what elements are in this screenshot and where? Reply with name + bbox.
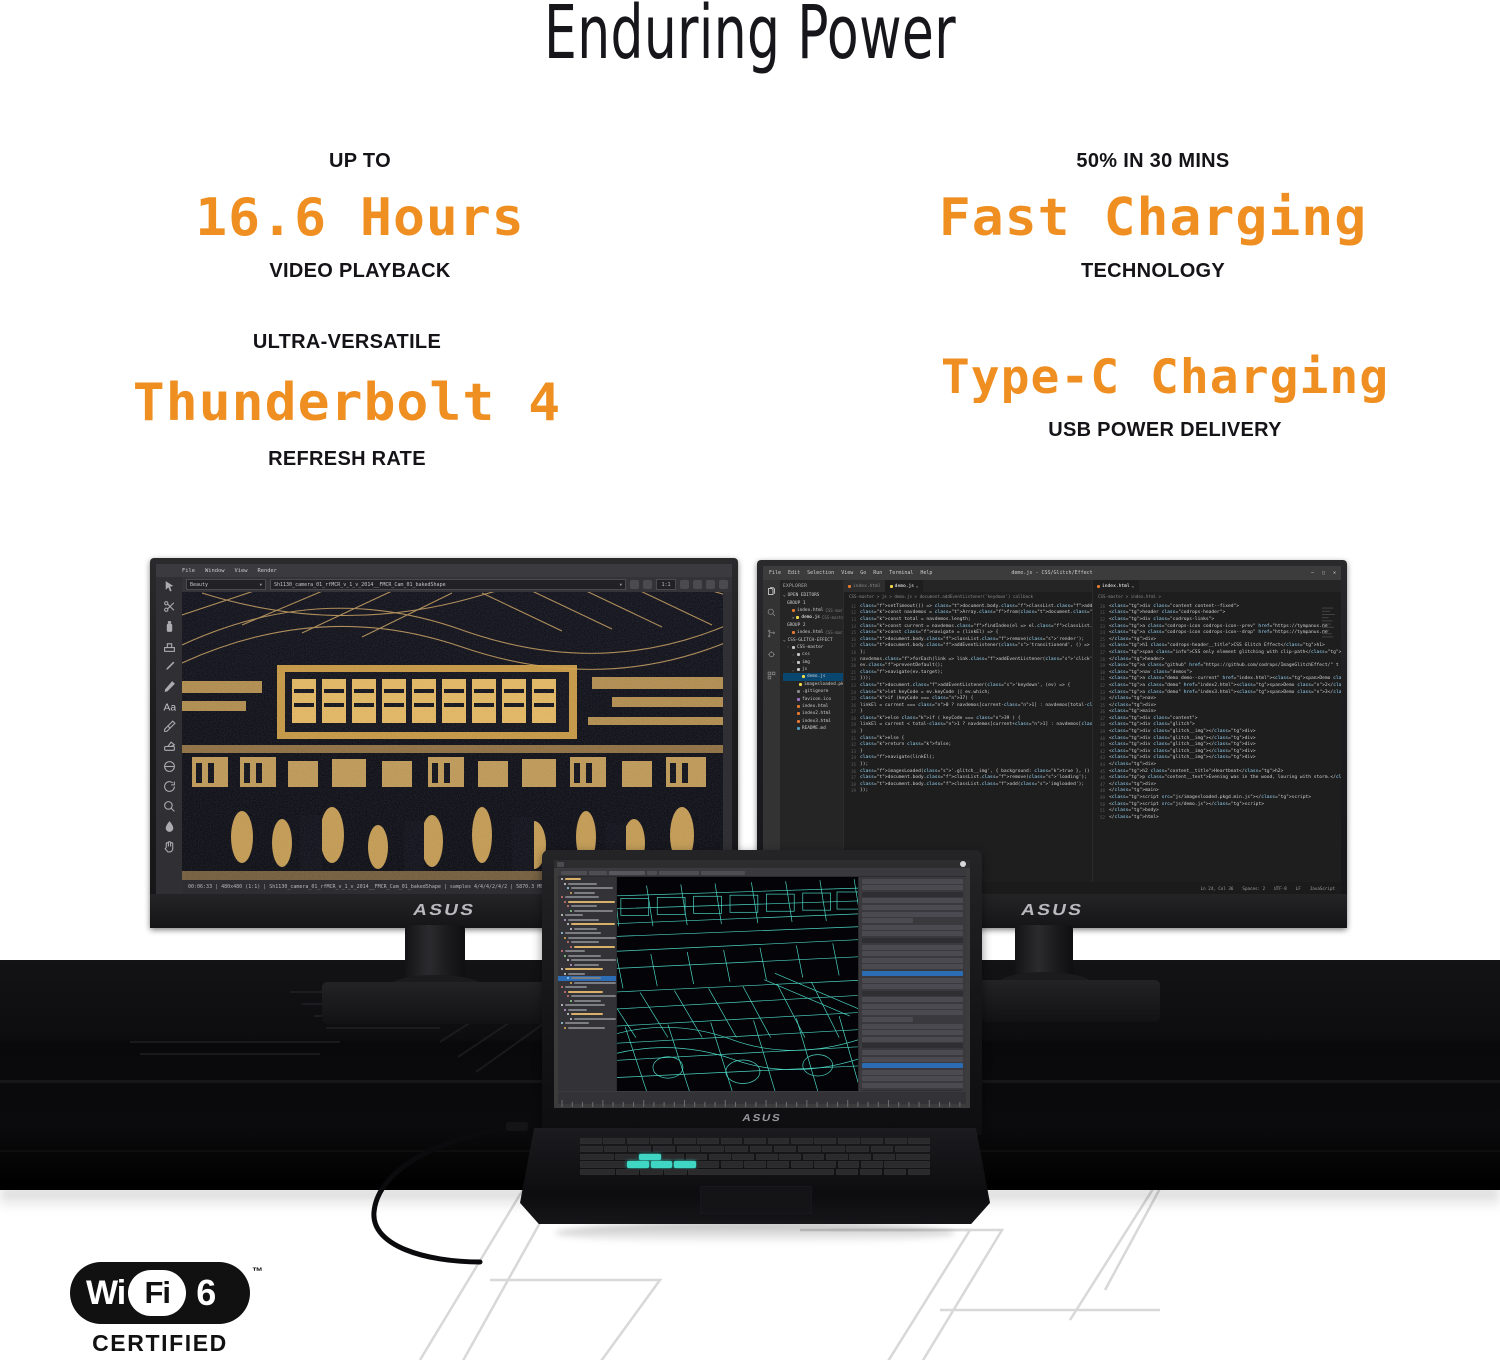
code-line: 22})); — [844, 676, 1092, 683]
bottle-icon[interactable] — [163, 620, 176, 633]
code-line: 23 <class="tg">a class="codrops-icon cod… — [1093, 623, 1341, 630]
key[interactable] — [650, 1138, 672, 1144]
laptop-viewport[interactable] — [617, 877, 858, 1091]
tree-item[interactable]: demo.js — [783, 673, 843, 680]
status-position[interactable]: Ln 24, Col 36 — [1201, 886, 1234, 891]
code-content-right[interactable]: 20<class="tg">div class="content content… — [1093, 601, 1341, 882]
line-number: 46 — [1093, 775, 1109, 780]
editor-tabs-left[interactable]: index.html demo.js ✕ — [844, 580, 1092, 592]
code-line: 18}; — [844, 649, 1092, 656]
key[interactable] — [791, 1138, 813, 1144]
property-row[interactable] — [862, 964, 963, 969]
menu-render[interactable]: Render — [257, 568, 276, 574]
render-viewer-scrollbar[interactable] — [723, 592, 732, 880]
key[interactable] — [580, 1154, 614, 1160]
code-line: 33 } — [844, 748, 1092, 755]
code-text: <class="tg">a class="demo" href="index3.… — [1109, 690, 1341, 695]
code-text: class="t">document.body.class="f">classL… — [860, 775, 1087, 780]
close-icon[interactable]: ✕ — [1333, 570, 1336, 576]
key[interactable] — [697, 1138, 719, 1144]
key[interactable] — [814, 1138, 836, 1144]
svg-text:Aa: Aa — [163, 702, 175, 713]
key[interactable] — [627, 1138, 649, 1144]
code-content-left[interactable]: 11class="f">setTimeout(() => class="t">d… — [844, 601, 1092, 882]
key-highlighted[interactable] — [674, 1161, 696, 1167]
key[interactable] — [744, 1138, 766, 1144]
toolbar-icon-d[interactable] — [693, 580, 702, 589]
vscode-window-title: demo.js - CSS/Glitch/Effect — [1011, 570, 1092, 576]
key[interactable] — [674, 1138, 696, 1144]
key[interactable] — [836, 1169, 858, 1175]
line-number: 26 — [1093, 643, 1109, 648]
line-number: 28 — [844, 716, 860, 721]
property-row[interactable] — [862, 1090, 963, 1091]
editor-pane-left[interactable]: index.html demo.js ✕ CSS-master > js > d… — [843, 580, 1092, 882]
menu-window[interactable]: Window — [205, 568, 224, 574]
eyedropper-icon[interactable] — [163, 720, 176, 733]
key-highlighted[interactable] — [651, 1161, 673, 1167]
status-spaces[interactable]: Spaces: 2 — [1242, 886, 1265, 891]
key[interactable] — [628, 1146, 651, 1152]
line-number: 17 — [844, 643, 860, 648]
code-text: class="k">return class="k">false; — [860, 742, 951, 747]
line-number: 51 — [1093, 808, 1109, 813]
code-line: 37 class="t">document.body.class="f">cla… — [844, 774, 1092, 781]
property-row[interactable] — [862, 892, 963, 897]
feature-2-overline: ULTRA-VERSATILE — [0, 331, 722, 354]
menu-file[interactable]: File — [182, 568, 195, 574]
menu-selection[interactable]: Selection — [807, 570, 834, 576]
code-line: 28 class="k">else class="k">if ( keyCode… — [844, 715, 1092, 722]
tree-item[interactable]: ›img — [783, 659, 843, 666]
breadcrumb-right[interactable]: CSS-master > index.html > — [1093, 592, 1341, 601]
menu-view[interactable]: View — [234, 568, 247, 574]
key[interactable] — [768, 1138, 790, 1144]
status-encoding[interactable]: UTF-8 — [1274, 886, 1287, 891]
tree-item[interactable]: ⌄js — [783, 666, 843, 673]
property-row[interactable] — [862, 1057, 963, 1062]
file-tree[interactable]: ›CSS-master›css›img⌄jsdemo.jsimagesloade… — [783, 644, 843, 733]
tree-item[interactable]: README.md — [783, 725, 843, 732]
gradient-icon[interactable] — [163, 760, 176, 773]
laptop-keyboard[interactable] — [580, 1138, 930, 1180]
key[interactable] — [688, 1169, 834, 1175]
toolbar-icon-b[interactable] — [643, 580, 652, 589]
tree-item[interactable]: ›css — [783, 651, 843, 658]
code-line: 23class="t">document.class="f">addEventL… — [844, 682, 1092, 689]
key[interactable] — [580, 1138, 602, 1144]
vscode-activity-bar[interactable] — [763, 580, 780, 882]
code-line: 50<class="tg">script src="js/demo.js"></… — [1093, 801, 1341, 808]
minimap[interactable] — [1322, 604, 1338, 656]
status-language[interactable]: JavaScript — [1310, 886, 1335, 891]
tree-item-label: index3.html — [802, 719, 831, 724]
key[interactable] — [653, 1146, 676, 1152]
key[interactable] — [822, 1146, 845, 1152]
code-text: class="k">const navdemos = class="t">Arr… — [860, 610, 1092, 615]
key[interactable] — [604, 1146, 627, 1152]
key[interactable] — [697, 1161, 719, 1167]
line-number: 43 — [1093, 755, 1109, 760]
property-row[interactable] — [862, 905, 963, 910]
key[interactable] — [908, 1169, 930, 1175]
text-icon[interactable]: Aa — [163, 700, 176, 713]
wifi6-certified-badge: Wi Fi 6 ™ CERTIFIED — [70, 1262, 265, 1357]
key[interactable] — [744, 1161, 766, 1167]
line-number: 45 — [1093, 769, 1109, 774]
key-highlighted[interactable] — [639, 1154, 661, 1160]
tree-item-label: README.md — [802, 726, 826, 731]
stamp-icon[interactable] — [163, 640, 176, 653]
line-number: 29 — [844, 722, 860, 727]
key[interactable] — [725, 1146, 748, 1152]
toolbar-icon-c[interactable] — [680, 580, 689, 589]
key[interactable] — [908, 1138, 930, 1144]
tree-item-label: index2.html — [802, 711, 831, 716]
code-text: </class="tg">body> — [1109, 808, 1159, 813]
key[interactable] — [580, 1146, 603, 1152]
line-number: 11 — [844, 604, 860, 609]
tree-item[interactable]: imagesloaded.pkgd.min.js — [783, 681, 843, 688]
line-number: 23 — [1093, 624, 1109, 629]
keyboard-row — [580, 1146, 930, 1152]
property-row[interactable] — [862, 1043, 963, 1048]
line-number: 48 — [1093, 788, 1109, 793]
key[interactable] — [603, 1138, 625, 1144]
code-text: <class="tg">div class="glitch__img"></cl… — [1109, 742, 1256, 747]
code-line: 11class="f">setTimeout(() => class="t">d… — [844, 603, 1092, 610]
property-row[interactable] — [862, 958, 963, 963]
search-icon[interactable] — [767, 608, 776, 617]
property-row[interactable] — [862, 885, 963, 890]
key[interactable] — [849, 1154, 871, 1160]
key[interactable] — [826, 1154, 848, 1160]
code-text: class="k">const current = navdemos.class… — [860, 624, 1092, 629]
toolbar-icon-e[interactable] — [706, 580, 715, 589]
code-text: <class="tg">div class="glitch__img"></cl… — [1109, 755, 1256, 760]
open-editor-item-active[interactable]: ✕ demo.js CSS-master/js — [783, 614, 843, 621]
code-line: 12class="k">const navdemos = class="t">A… — [844, 610, 1092, 617]
vscode-explorer-sidebar[interactable]: EXPLORER ⌄OPEN EDITORS GROUP 1 index.htm… — [780, 580, 843, 882]
property-row[interactable] — [862, 879, 963, 884]
code-text: <class="tg">div class="glitch__img"></cl… — [1109, 749, 1256, 754]
key[interactable] — [750, 1146, 773, 1152]
line-number: 36 — [844, 769, 860, 774]
property-row[interactable] — [862, 1076, 963, 1081]
vscode-app: File Edit Selection View Go Run Terminal… — [763, 566, 1341, 894]
eraser-icon[interactable] — [163, 740, 176, 753]
open-editor-item[interactable]: index.html CSS-master — [783, 607, 843, 614]
files-icon[interactable] — [767, 587, 776, 596]
laptop-app-toolbar[interactable] — [558, 869, 966, 876]
key[interactable] — [861, 1161, 883, 1167]
property-row[interactable] — [862, 1063, 963, 1068]
key[interactable] — [640, 1169, 662, 1175]
property-row[interactable] — [862, 1017, 913, 1022]
line-number: 38 — [1093, 722, 1109, 727]
property-row[interactable] — [862, 1030, 963, 1035]
property-row[interactable] — [862, 984, 963, 989]
tab-index-html[interactable]: index.html — [844, 580, 886, 592]
code-text: <class="tg">script src="js/demo.js"></cl… — [1109, 802, 1264, 807]
project-root-header[interactable]: ⌄CSS-GLITCH-EFFECT — [783, 636, 843, 643]
code-line: 32 class="k">return class="k">false; — [844, 741, 1092, 748]
code-text: </class="tg">div> — [1109, 703, 1156, 708]
feature-3-underline: USB POWER DELIVERY — [790, 419, 1500, 442]
code-line: 31 class="k">else { — [844, 735, 1092, 742]
zoom-icon[interactable] — [163, 800, 176, 813]
minimize-icon[interactable]: — — [1311, 570, 1314, 576]
editor-tabs-right[interactable]: index.html ✕ — [1093, 580, 1341, 592]
tab-index-html-right[interactable]: index.html ✕ — [1093, 580, 1139, 592]
code-text: class="t">document.body.class="f">classL… — [860, 637, 1084, 642]
code-text: })); — [860, 676, 871, 681]
key[interactable] — [896, 1154, 930, 1160]
pencil-icon[interactable] — [163, 680, 176, 693]
code-text: class="k">else { — [860, 736, 904, 741]
code-line: 38 class="t">document.body.class="f">cla… — [844, 781, 1092, 788]
hand-icon[interactable] — [163, 840, 176, 853]
property-row[interactable] — [862, 978, 963, 983]
code-line: 39 <class="tg">div class="glitch__img"><… — [1093, 728, 1341, 735]
tree-item[interactable]: favicon.ico — [783, 695, 843, 702]
tree-item-label: css — [802, 652, 810, 657]
line-number: 15 — [844, 630, 860, 635]
key[interactable] — [814, 1161, 836, 1167]
tree-item[interactable]: index2.html — [783, 710, 843, 717]
code-text: <class="tg">nav class="demos"> — [1109, 670, 1192, 675]
property-row[interactable] — [862, 938, 963, 943]
property-row[interactable] — [862, 971, 963, 976]
code-text: <class="tg">h2 class="content__title">He… — [1109, 769, 1283, 774]
code-line: 25 </class="tg">div> — [1093, 636, 1341, 643]
keyboard-row — [580, 1169, 930, 1175]
debug-icon[interactable] — [767, 650, 776, 659]
key[interactable] — [701, 1146, 724, 1152]
code-line: 46 <class="tg">p class="content__text">E… — [1093, 774, 1341, 781]
property-row[interactable] — [862, 1024, 963, 1029]
hamburger-icon[interactable] — [557, 862, 564, 867]
editor-pane-right[interactable]: index.html ✕ CSS-master > index.html > 2… — [1092, 580, 1341, 882]
feature-block-thunderbolt: ULTRA-VERSATILE Thunderbolt 4 REFRESH RA… — [0, 331, 722, 470]
render-select[interactable]: Sh1130_camera_01_rfMCR_v_1_v_2014__FMCR_… — [270, 579, 626, 590]
rotate-icon[interactable] — [163, 780, 176, 793]
asus-logo-right: ASUS — [1019, 902, 1085, 920]
key[interactable] — [709, 1154, 731, 1160]
key-highlighted[interactable] — [627, 1161, 649, 1167]
open-editors-header[interactable]: ⌄OPEN EDITORS — [783, 592, 843, 599]
key[interactable] — [686, 1154, 708, 1160]
laptop-app-outliner[interactable] — [558, 877, 616, 1091]
trademark-icon: ™ — [252, 1266, 263, 1278]
menu-help[interactable]: Help — [920, 570, 932, 576]
tree-item[interactable]: index.html — [783, 703, 843, 710]
menu-run[interactable]: Run — [873, 570, 882, 576]
property-row[interactable] — [862, 1070, 963, 1075]
feature-block-fast-charging: 50% IN 30 MINS Fast Charging TECHNOLOGY — [778, 150, 1500, 283]
vscode-menubar[interactable]: File Edit Selection View Go Run Terminal… — [763, 570, 932, 576]
wifi-wi-text: Wi — [86, 1274, 125, 1313]
window-controls[interactable]: — ▢ ✕ — [1311, 570, 1336, 576]
code-line: 52</class="tg">html> — [1093, 814, 1341, 821]
key[interactable] — [846, 1146, 869, 1152]
code-text: } — [860, 709, 863, 714]
code-line: 21 <class="tg">header class="codrops-hea… — [1093, 610, 1341, 617]
menu-edit[interactable]: Edit — [788, 570, 800, 576]
key[interactable] — [779, 1154, 801, 1160]
layer-select[interactable]: Beauty▼ — [186, 579, 266, 590]
product-photo-scene: Aa File Window View Render — [0, 520, 1500, 1320]
key[interactable] — [580, 1161, 626, 1167]
code-line: 37 <class="tg">div class="content"> — [1093, 715, 1341, 722]
status-eol[interactable]: LF — [1296, 886, 1301, 891]
code-text: class="k">const class="f">navigate = (li… — [860, 630, 998, 635]
key[interactable] — [873, 1154, 895, 1160]
laptop-properties-panel[interactable] — [859, 877, 966, 1091]
scissors-icon[interactable] — [163, 600, 176, 613]
render-viewer-toolbar[interactable]: Aa — [156, 564, 182, 894]
key[interactable] — [732, 1154, 754, 1160]
key[interactable] — [767, 1161, 789, 1167]
keyboard-row — [580, 1138, 930, 1144]
code-line: 42 <class="tg">div class="glitch__img"><… — [1093, 748, 1341, 755]
code-line: 36<class="tg">main> — [1093, 709, 1341, 716]
code-line: 20<class="tg">div class="content content… — [1093, 603, 1341, 610]
blur-icon[interactable] — [163, 820, 176, 833]
property-row[interactable] — [862, 951, 963, 956]
chevron-down-icon[interactable]: ▼ — [620, 582, 622, 587]
laptop-touchpad[interactable] — [700, 1186, 812, 1214]
tree-item-label: .gitignore — [802, 689, 828, 694]
key[interactable] — [861, 1138, 883, 1144]
property-row[interactable] — [862, 918, 913, 923]
key[interactable] — [662, 1154, 684, 1160]
feature-0-headline: 16.6 Hours — [0, 189, 743, 248]
maximize-icon[interactable]: ▢ — [1322, 570, 1325, 576]
line-number: 28 — [1093, 657, 1109, 662]
line-number: 24 — [844, 690, 860, 695]
tree-item[interactable]: ›CSS-master — [783, 644, 843, 651]
tree-item-label: CSS-master — [797, 645, 823, 650]
key[interactable] — [721, 1161, 743, 1167]
key[interactable] — [838, 1161, 860, 1167]
brush-icon[interactable] — [163, 660, 176, 673]
property-row[interactable] — [862, 997, 963, 1002]
code-line: 31 <class="tg">a class="demo demo--curre… — [1093, 676, 1341, 683]
key[interactable] — [677, 1146, 700, 1152]
line-number: 32 — [844, 742, 860, 747]
key[interactable] — [721, 1138, 743, 1144]
line-number: 21 — [1093, 610, 1109, 615]
left-monitor-base — [322, 982, 552, 1024]
right-monitor-screen: File Edit Selection View Go Run Terminal… — [763, 566, 1341, 894]
breadcrumb-left[interactable]: CSS-master > js > demo.js > document.add… — [844, 592, 1092, 601]
property-row[interactable] — [862, 1037, 963, 1042]
gear-icon[interactable] — [719, 580, 728, 589]
toolbar-icon-a[interactable] — [630, 580, 639, 589]
key[interactable] — [616, 1169, 638, 1175]
menu-file[interactable]: File — [769, 570, 781, 576]
tree-item[interactable]: .gitignore — [783, 688, 843, 695]
chevron-down-icon[interactable]: ▼ — [260, 582, 262, 587]
code-text: <class="tg">a class="codrops-icon codrop… — [1109, 630, 1328, 635]
key[interactable] — [803, 1154, 825, 1160]
property-row[interactable] — [862, 1083, 963, 1088]
key[interactable] — [580, 1169, 615, 1175]
tree-item-label: favicon.ico — [802, 697, 831, 702]
feature-1-underline: TECHNOLOGY — [778, 260, 1500, 283]
code-line: 20 ev.class="f">preventDefault(); — [844, 662, 1092, 669]
code-text: class="k">else class="k">if ( keyCode ==… — [860, 716, 1021, 721]
key[interactable] — [756, 1154, 778, 1160]
tree-item[interactable]: index3.html — [783, 718, 843, 725]
key[interactable] — [664, 1169, 686, 1175]
line-number: 25 — [844, 696, 860, 701]
help-icon[interactable] — [960, 861, 966, 867]
tab-demo-js[interactable]: demo.js ✕ — [886, 580, 924, 592]
line-number: 31 — [844, 736, 860, 741]
feature-block-typec: Type-C Charging USB POWER DELIVERY — [790, 331, 1500, 470]
key[interactable] — [884, 1169, 906, 1175]
code-text: <class="tg">p class="content__text">Even… — [1109, 775, 1341, 780]
key[interactable] — [871, 1146, 894, 1152]
property-row[interactable] — [862, 912, 963, 917]
property-row[interactable] — [862, 1004, 963, 1009]
pointer-icon[interactable] — [163, 580, 176, 593]
key[interactable] — [774, 1146, 797, 1152]
code-text: } — [860, 749, 863, 754]
key[interactable] — [798, 1146, 821, 1152]
render-canvas[interactable] — [182, 592, 732, 880]
key[interactable] — [860, 1169, 882, 1175]
zoom-level[interactable]: 1:1 — [656, 579, 676, 590]
key[interactable] — [615, 1154, 637, 1160]
laptop-timeline[interactable] — [558, 1092, 966, 1104]
property-row[interactable] — [862, 898, 963, 903]
code-text: </class="tg">html> — [1109, 815, 1159, 820]
menu-terminal[interactable]: Terminal — [889, 570, 913, 576]
menu-go[interactable]: Go — [860, 570, 866, 576]
menu-view[interactable]: View — [841, 570, 853, 576]
property-row[interactable] — [862, 1050, 963, 1055]
key[interactable] — [791, 1161, 813, 1167]
code-text: }); — [860, 762, 868, 767]
line-number: 41 — [1093, 742, 1109, 747]
line-number: 18 — [844, 650, 860, 655]
key[interactable] — [838, 1138, 860, 1144]
render-viewer-options-bar[interactable]: Beauty▼ Sh1130_camera_01_rfMCR_v_1_v_201… — [182, 577, 732, 592]
code-line: 34 </class="tg">nav> — [1093, 695, 1341, 702]
property-row[interactable] — [862, 1010, 963, 1015]
product-feature-page: Enduring Power UP TO 16.6 Hours VIDEO PL… — [0, 0, 1500, 1360]
line-number: 13 — [844, 617, 860, 622]
property-row[interactable] — [862, 991, 963, 996]
property-row[interactable] — [862, 925, 963, 930]
extensions-icon[interactable] — [767, 671, 776, 680]
property-row[interactable] — [862, 945, 963, 950]
source-control-icon[interactable] — [767, 629, 776, 638]
render-viewer-menubar[interactable]: File Window View Render — [156, 564, 732, 577]
key[interactable] — [895, 1146, 930, 1152]
code-text: <class="tg">script src="js/imagesloaded.… — [1109, 795, 1311, 800]
outliner-row[interactable] — [558, 1026, 616, 1031]
line-number: 22 — [844, 676, 860, 681]
open-editor-item[interactable]: index.html CSS-master — [783, 629, 843, 636]
code-text: <class="tg">div class="content"> — [1109, 716, 1198, 721]
key[interactable] — [885, 1138, 907, 1144]
key[interactable] — [884, 1161, 930, 1167]
property-row[interactable] — [862, 931, 963, 936]
